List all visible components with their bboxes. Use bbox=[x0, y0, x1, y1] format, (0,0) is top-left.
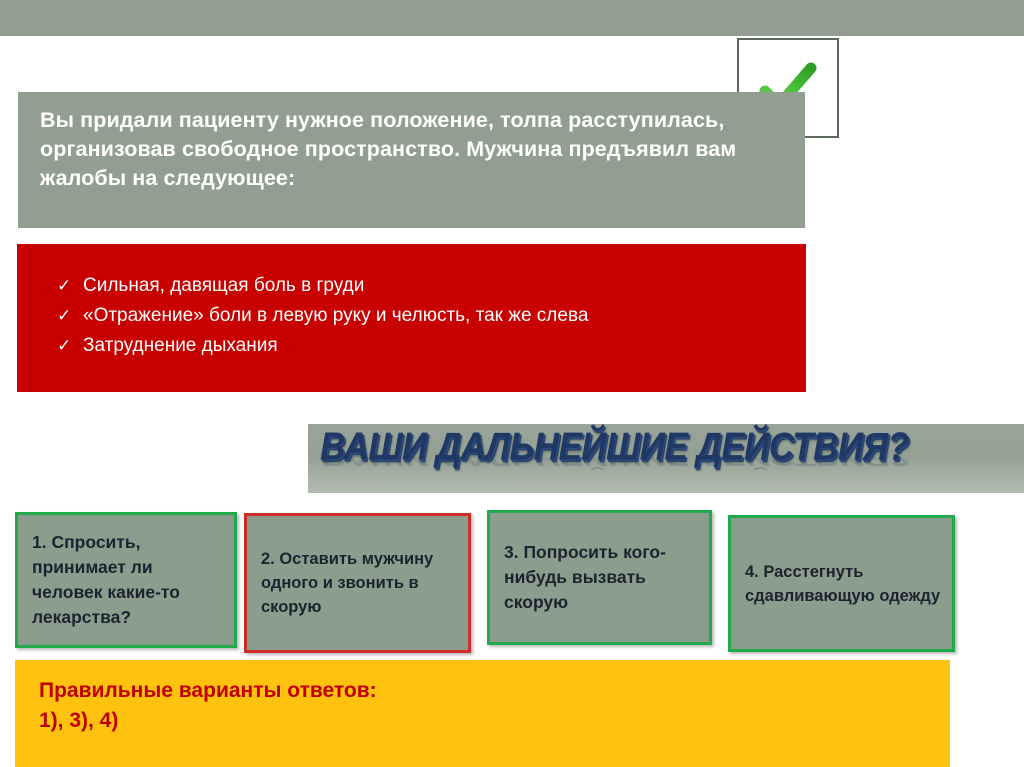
list-item: ✓ «Отражение» боли в левую руку и челюст… bbox=[57, 302, 788, 330]
check-bullet-icon: ✓ bbox=[57, 272, 83, 300]
check-bullet-icon: ✓ bbox=[57, 332, 83, 360]
top-decorative-bar bbox=[0, 0, 1024, 36]
symptoms-box: ✓ Сильная, давящая боль в груди ✓ «Отраж… bbox=[17, 244, 806, 392]
option-label-1: 1. Спросить, принимает ли человек какие-… bbox=[18, 530, 234, 630]
option-button-2[interactable]: 2. Оставить мужчину одного и звонить в с… bbox=[244, 513, 471, 653]
option-label-4: 4. Расстегнуть сдавливающую одежду bbox=[731, 560, 952, 608]
option-label-3: 3. Попросить кого-нибудь вызвать скорую bbox=[490, 540, 709, 615]
check-bullet-icon: ✓ bbox=[57, 302, 83, 330]
list-item: ✓ Затруднение дыхания bbox=[57, 332, 788, 360]
scenario-box: Вы придали пациенту нужное положение, то… bbox=[18, 92, 805, 228]
option-label-2: 2. Оставить мужчину одного и звонить в с… bbox=[247, 547, 468, 619]
correct-answers-banner: Правильные варианты ответов: 1), 3), 4) bbox=[15, 660, 950, 767]
heading-band: ВАШИ ДАЛЬНЕЙШИЕ ДЕЙСТВИЯ? ВАШИ ДАЛЬНЕЙШИ… bbox=[308, 424, 1024, 493]
symptom-list: ✓ Сильная, давящая боль в груди ✓ «Отраж… bbox=[57, 272, 788, 360]
page-title: ВАШИ ДАЛЬНЕЙШИЕ ДЕЙСТВИЯ? bbox=[320, 425, 1020, 470]
list-item: ✓ Сильная, давящая боль в груди bbox=[57, 272, 788, 300]
slide-canvas: Вы придали пациенту нужное положение, то… bbox=[0, 0, 1024, 767]
scenario-text: Вы придали пациенту нужное положение, то… bbox=[40, 106, 783, 193]
symptom-text: Сильная, давящая боль в груди bbox=[83, 272, 364, 300]
symptom-text: «Отражение» боли в левую руку и челюсть,… bbox=[83, 302, 588, 330]
option-button-3[interactable]: 3. Попросить кого-нибудь вызвать скорую bbox=[487, 510, 712, 645]
correct-answers-value: 1), 3), 4) bbox=[39, 706, 930, 736]
correct-answers-label: Правильные варианты ответов: bbox=[39, 676, 930, 706]
symptom-text: Затруднение дыхания bbox=[83, 332, 278, 360]
option-button-4[interactable]: 4. Расстегнуть сдавливающую одежду bbox=[728, 515, 955, 652]
option-button-1[interactable]: 1. Спросить, принимает ли человек какие-… bbox=[15, 512, 237, 648]
